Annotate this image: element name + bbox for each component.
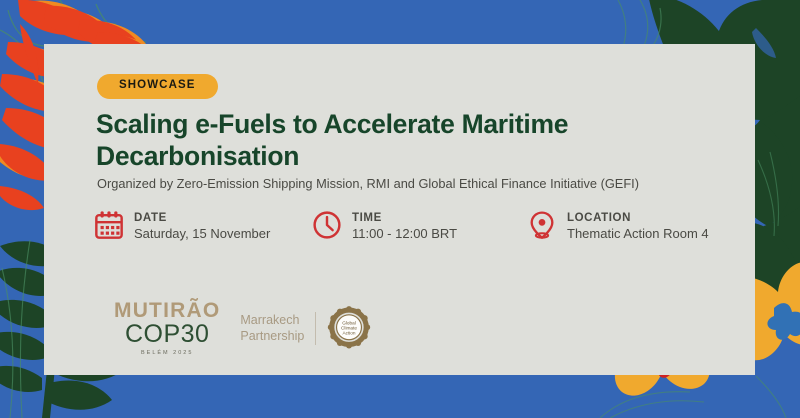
cop30-logo: MUTIRÃO COP30 BELÉM 2025 — [114, 300, 220, 357]
clock-icon — [312, 210, 342, 240]
detail-date-value: Saturday, 15 November — [134, 225, 270, 244]
event-title: Scaling e-Fuels to Accelerate Maritime D… — [96, 108, 696, 173]
marrakech-line-1: Marrakech — [240, 312, 304, 329]
global-climate-action-seal-icon: Global Climate Action — [327, 306, 371, 350]
seal-line-1: Global — [343, 321, 357, 326]
cop30-mutirao-text: MUTIRÃO — [114, 300, 220, 321]
cop30-text: COP30 — [114, 322, 220, 347]
detail-time: TIME 11:00 - 12:00 BRT — [312, 210, 527, 244]
marrakech-line-2: Partnership — [240, 328, 304, 345]
event-details: DATE Saturday, 15 November TIME 11:00 - … — [94, 210, 754, 244]
cop30-belem-text: BELÉM 2025 — [114, 351, 220, 357]
marrakech-partnership-text: Marrakech Partnership — [240, 312, 316, 345]
marrakech-partnership-logo: Marrakech Partnership — [240, 306, 371, 350]
detail-location: LOCATION Thematic Action Room 4 — [527, 210, 754, 244]
detail-location-value: Thematic Action Room 4 — [567, 225, 709, 244]
detail-time-label: TIME — [352, 211, 457, 225]
detail-date-label: DATE — [134, 211, 270, 225]
showcase-badge: SHOWCASE — [97, 74, 218, 99]
logo-row: MUTIRÃO COP30 BELÉM 2025 Marrakech Partn… — [114, 300, 371, 357]
calendar-icon — [94, 210, 124, 240]
detail-date: DATE Saturday, 15 November — [94, 210, 312, 244]
seal-line-3: Action — [343, 331, 356, 336]
detail-location-label: LOCATION — [567, 211, 709, 225]
detail-time-value: 11:00 - 12:00 BRT — [352, 225, 457, 244]
event-card: SHOWCASE Scaling e-Fuels to Accelerate M… — [44, 44, 755, 375]
event-organizer: Organized by Zero-Emission Shipping Miss… — [97, 176, 747, 193]
seal-line-2: Climate — [341, 326, 357, 331]
location-pin-icon — [527, 210, 557, 240]
